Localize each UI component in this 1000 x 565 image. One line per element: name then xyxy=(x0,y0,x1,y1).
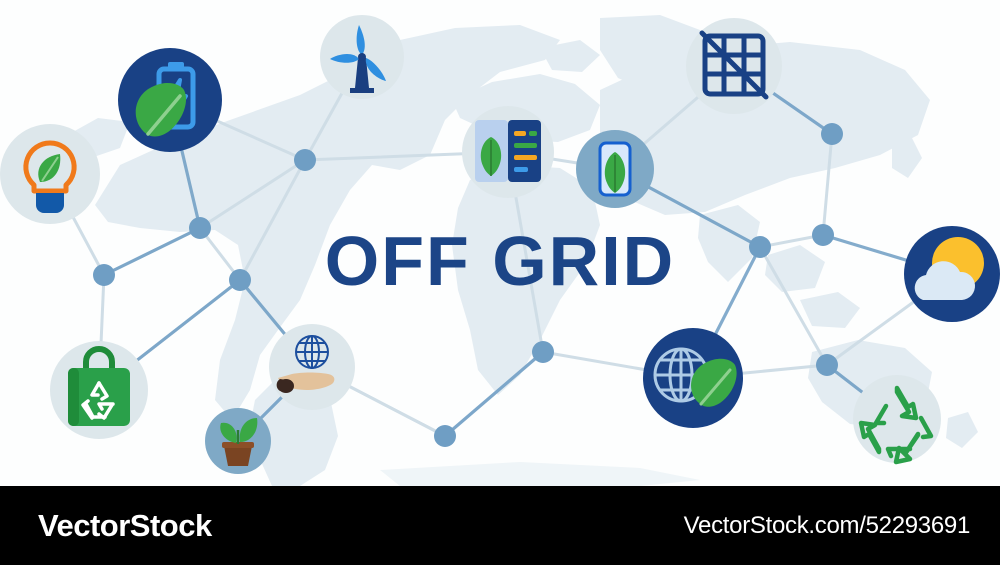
phone-leaf-icon[interactable] xyxy=(576,130,654,208)
illustration-stage: OFF GRID VectorStock VectorStock.com/522… xyxy=(0,0,1000,565)
recycle-arrows-icon[interactable] xyxy=(853,375,941,463)
report-line-1b-shape xyxy=(529,131,537,136)
bag-side-shade-shape xyxy=(68,368,79,426)
pot-shape xyxy=(224,446,252,466)
report-right-page-shape xyxy=(508,120,541,182)
bulb-leaf-icon[interactable] xyxy=(0,124,100,224)
watermark-bar: VectorStock VectorStock.com/52293691 xyxy=(0,486,1000,565)
bulb-base-shape xyxy=(36,193,64,213)
solar-panel-icon[interactable] xyxy=(686,18,782,114)
battery-leaf-icon[interactable] xyxy=(118,48,222,152)
watermark-url: VectorStock.com/52293691 xyxy=(684,512,970,540)
potted-plant-icon[interactable] xyxy=(205,408,271,474)
watermark-brand: VectorStock xyxy=(38,508,212,544)
report-line-1a-shape xyxy=(514,131,526,136)
eco-report-icon[interactable] xyxy=(462,106,554,198)
page-title: OFF GRID xyxy=(0,226,1000,296)
wind-turbine-icon[interactable] xyxy=(320,15,404,99)
report-line-2-shape xyxy=(514,143,537,148)
globe-leaf-icon[interactable] xyxy=(643,328,743,428)
recycle-bag-icon[interactable] xyxy=(50,341,148,439)
report-line-4-shape xyxy=(514,167,528,172)
sleeve-cuff-shape xyxy=(278,379,294,393)
turbine-hub-shape xyxy=(358,53,366,61)
report-line-3-shape xyxy=(514,155,537,160)
globe-shape xyxy=(296,336,328,368)
hand-globe-icon[interactable] xyxy=(269,324,355,410)
artboard: OFF GRID xyxy=(0,0,1000,486)
